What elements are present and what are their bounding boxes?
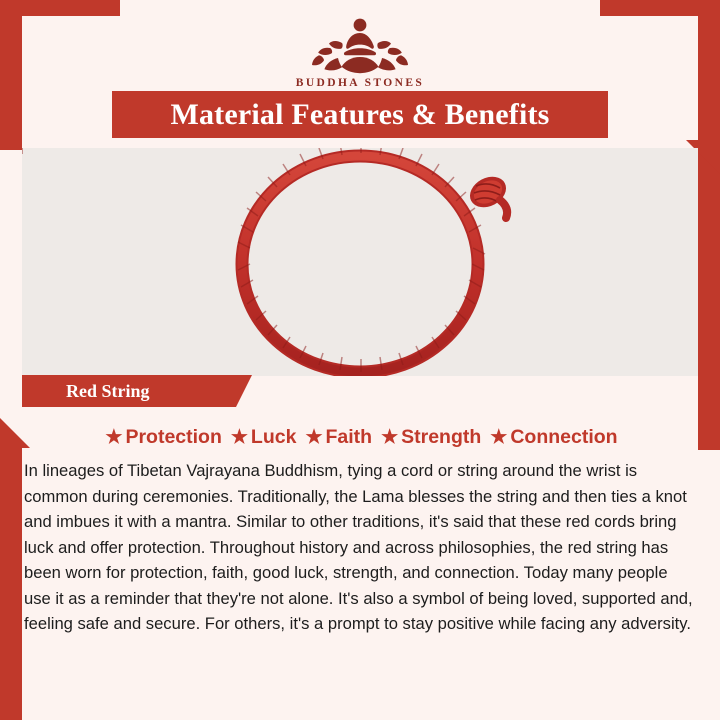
brand-logo: BUDDHA STONES	[0, 12, 720, 89]
keyword-item: ★ Faith	[296, 426, 372, 449]
keyword-item: ★ Luck	[222, 426, 297, 449]
brand-name: BUDDHA STONES	[0, 77, 720, 89]
section-label: Red String	[66, 381, 150, 402]
page-title: Material Features & Benefits	[170, 98, 549, 132]
star-icon: ★	[305, 426, 322, 449]
keyword-label: Protection	[125, 426, 221, 449]
keyword-item: ★ Protection	[102, 426, 221, 449]
keyword-label: Strength	[401, 426, 481, 449]
keyword-label: Faith	[325, 426, 372, 449]
keyword-item: ★ Strength	[372, 426, 481, 449]
infographic-page: BUDDHA STONES Material Features & Benefi…	[0, 0, 720, 720]
red-string-bracelet-illustration	[22, 148, 698, 376]
star-icon: ★	[231, 426, 248, 449]
description-paragraph: In lineages of Tibetan Vajrayana Buddhis…	[24, 458, 696, 637]
title-banner: Material Features & Benefits	[112, 91, 608, 138]
keyword-label: Connection	[510, 426, 617, 449]
star-icon: ★	[490, 426, 507, 449]
frame-accent-right-mid	[698, 150, 720, 450]
keyword-item: ★ Connection	[481, 426, 617, 449]
lotus-meditation-icon	[0, 12, 720, 74]
hero-image	[22, 148, 698, 376]
star-icon: ★	[381, 426, 398, 449]
keyword-label: Luck	[251, 426, 297, 449]
keyword-list: ★ Protection ★ Luck ★ Faith ★ Strength ★…	[22, 418, 698, 456]
star-icon: ★	[105, 426, 122, 449]
frame-accent-left-bottom	[0, 440, 22, 720]
section-label-tab: Red String	[22, 375, 236, 407]
